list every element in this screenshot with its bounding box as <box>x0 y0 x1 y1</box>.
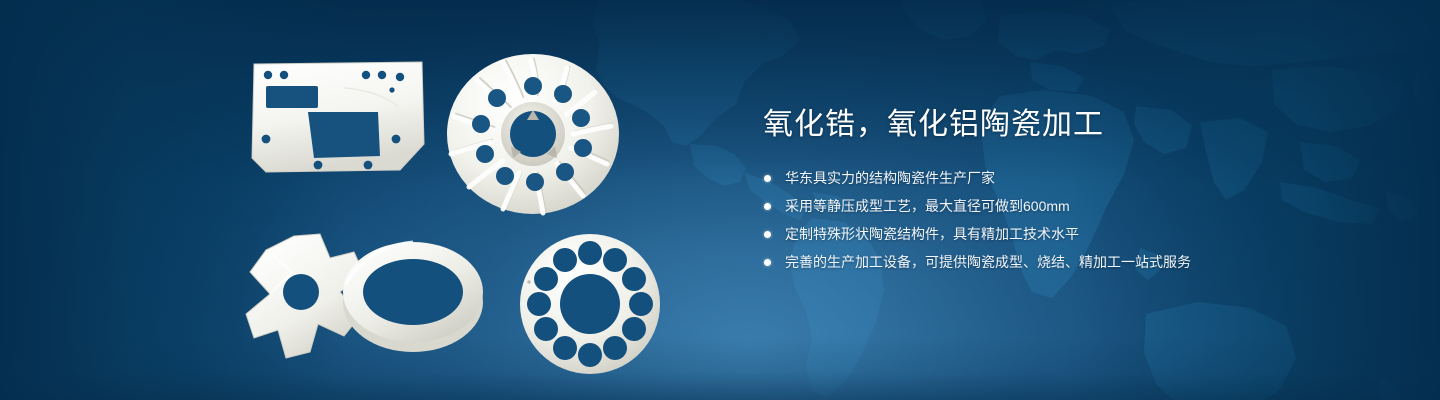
page-title: 氧化锆，氧化铝陶瓷加工 <box>763 105 1383 145</box>
bullet-dot-icon <box>764 203 771 210</box>
list-item-label: 定制特殊形状陶瓷结构件，具有精加工技术水平 <box>785 226 1079 242</box>
product-ceramic-impeller <box>445 48 621 218</box>
product-ceramic-valve-plate <box>515 230 665 378</box>
promo-banner: 氧化锆，氧化铝陶瓷加工 华东具实力的结构陶瓷件生产厂家 采用等静压成型工艺，最大… <box>0 0 1440 400</box>
banner-copy: 氧化锆，氧化铝陶瓷加工 华东具实力的结构陶瓷件生产厂家 采用等静压成型工艺，最大… <box>763 105 1383 279</box>
list-item-label: 华东具实力的结构陶瓷件生产厂家 <box>785 170 995 186</box>
bullet-dot-icon <box>764 175 771 182</box>
bullet-dot-icon <box>764 231 771 238</box>
product-ceramic-plate <box>248 58 428 178</box>
list-item: 华东具实力的结构陶瓷件生产厂家 <box>763 167 1383 190</box>
list-item: 定制特殊形状陶瓷结构件，具有精加工技术水平 <box>763 223 1383 246</box>
feature-list: 华东具实力的结构陶瓷件生产厂家 采用等静压成型工艺，最大直径可做到600mm 定… <box>763 167 1383 274</box>
product-photo-group <box>230 40 720 380</box>
list-item-label: 完善的生产加工设备，可提供陶瓷成型、烧结、精加工一站式服务 <box>785 254 1191 270</box>
product-ceramic-ring <box>338 228 488 358</box>
list-item: 完善的生产加工设备，可提供陶瓷成型、烧结、精加工一站式服务 <box>763 251 1383 274</box>
list-item-label: 采用等静压成型工艺，最大直径可做到600mm <box>785 198 1070 214</box>
bullet-dot-icon <box>764 259 771 266</box>
list-item: 采用等静压成型工艺，最大直径可做到600mm <box>763 195 1383 218</box>
